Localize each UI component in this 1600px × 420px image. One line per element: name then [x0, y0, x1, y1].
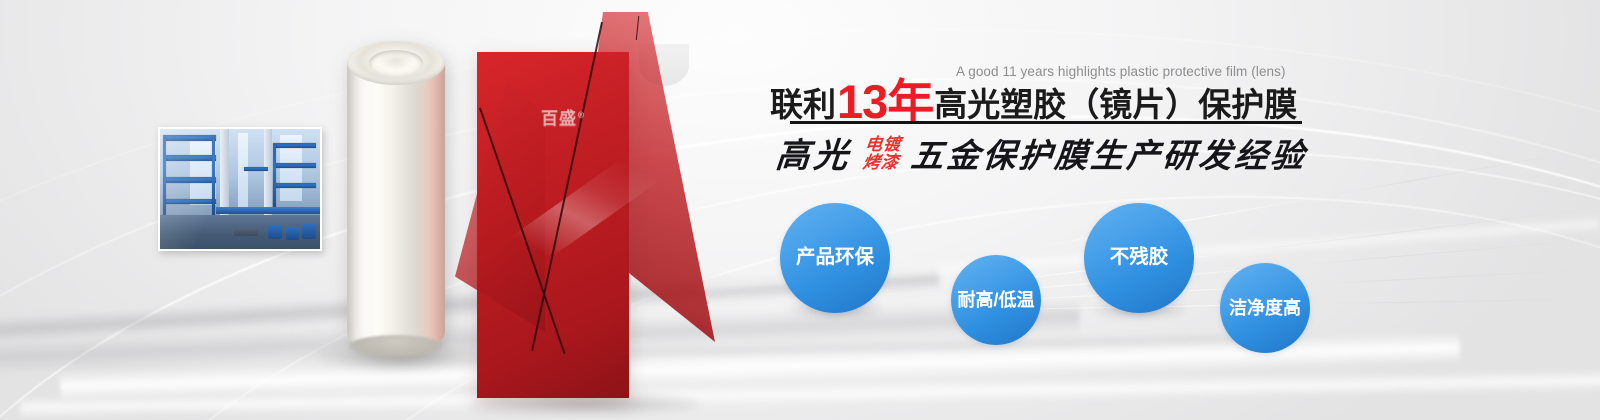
feature-bubble-eco[interactable]: 产品环保 [780, 203, 890, 313]
calligraphy-tagline: 高光 电镀 烤漆 五金保护膜生产研发经验 [776, 128, 1332, 186]
calligraphy-tail: 五金保护膜生产研发经验 [909, 129, 1309, 177]
main-title: 联利 13年 高光塑胶（镜片）保护膜 [770, 78, 1297, 121]
calligraphy-accent: 电镀 烤漆 [862, 136, 902, 172]
feature-bubble-cleanliness[interactable]: 洁净度高 [1220, 263, 1310, 353]
watermark-registered-mark: ® [577, 109, 586, 119]
film-roll-core [369, 50, 423, 76]
photo-gloss [160, 129, 320, 249]
red-acrylic-product: 百盛® [455, 8, 715, 408]
calligraphy-lead: 高光 [774, 128, 854, 177]
product-wing-left [455, 80, 545, 332]
product-watermark-logo: 百盛® [541, 104, 586, 129]
promo-banner: 百盛® A good 11 years highlights plastic p… [0, 0, 1600, 420]
watermark-text: 百盛 [541, 109, 577, 129]
product-name: 高光塑胶（镜片）保护膜 [934, 88, 1297, 121]
english-subtitle: A good 11 years highlights plastic prote… [956, 64, 1286, 79]
background-highlight-2 [20, 367, 1600, 419]
feature-bubble-label: 不残胶 [1110, 248, 1169, 268]
title-divider [790, 121, 1302, 124]
protective-film-roll [347, 42, 445, 354]
film-roll-highlight [355, 64, 373, 340]
calligraphy-accent-line-2: 烤漆 [862, 154, 900, 172]
feature-bubble-label: 耐高/低温 [957, 291, 1034, 309]
feature-bubble-label: 洁净度高 [1229, 299, 1301, 317]
film-roll-base [349, 335, 443, 357]
years-highlight: 13年 [837, 80, 933, 123]
brand-name: 联利 [770, 88, 836, 121]
feature-bubble-no-residue[interactable]: 不残胶 [1084, 203, 1194, 313]
factory-photo [158, 127, 322, 251]
calligraphy-accent-line-1: 电镀 [864, 136, 902, 154]
feature-bubble-temperature[interactable]: 耐高/低温 [951, 255, 1041, 345]
feature-bubble-label: 产品环保 [796, 248, 874, 268]
